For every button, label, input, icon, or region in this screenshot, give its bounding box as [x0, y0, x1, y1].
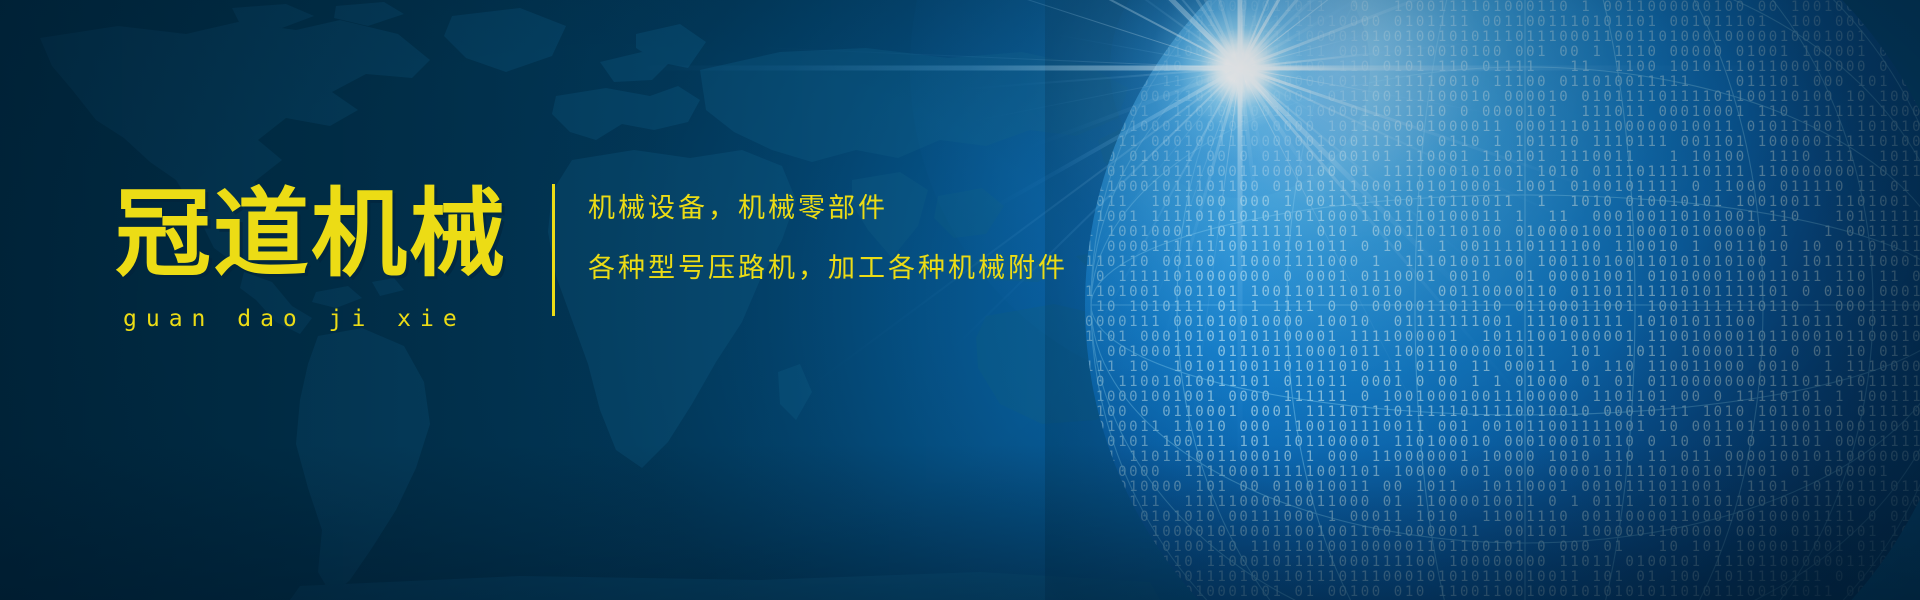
tagline-secondary: 各种型号压路机，加工各种机械附件 [588, 252, 1348, 286]
vertical-divider [552, 184, 555, 316]
brand-pinyin-text: guan dao ji xie [123, 306, 535, 332]
marketing-banner: 1111 010001110 1010 0 1010101 0 01111110… [0, 0, 1920, 600]
tagline-block: 机械设备，机械零部件 各种型号压路机，加工各种机械附件 [588, 192, 1348, 286]
tagline-primary: 机械设备，机械零部件 [588, 192, 1348, 226]
brand-logo-block: 冠道机械 guan dao ji xie [115, 178, 535, 332]
brand-logo-text: 冠道机械 [115, 178, 535, 290]
